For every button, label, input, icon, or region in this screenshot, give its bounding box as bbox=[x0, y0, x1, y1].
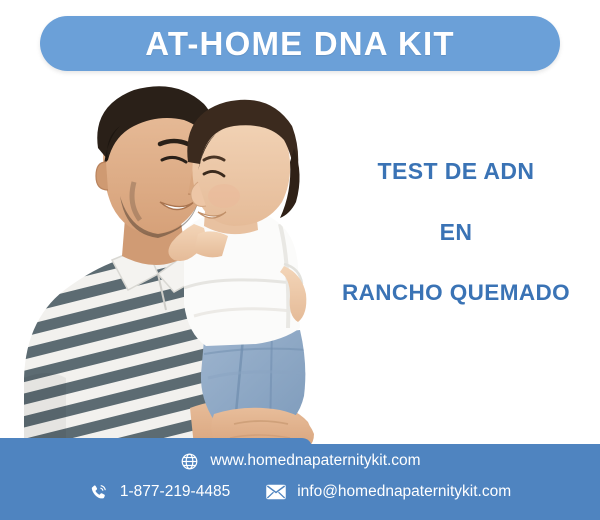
footer-website-label: www.homednapaternitykit.com bbox=[210, 453, 420, 469]
footer-phone-item[interactable]: 1-877-219-4485 bbox=[89, 482, 230, 502]
footer-website-item[interactable]: www.homednapaternitykit.com bbox=[179, 451, 420, 471]
footer-contact-row: 1-877-219-4485 info@homednapaternitykit.… bbox=[0, 482, 600, 502]
headline-line-3: RANCHO QUEMADO bbox=[320, 282, 592, 305]
father-and-child-photo bbox=[8, 78, 338, 460]
phone-icon bbox=[89, 482, 109, 502]
poster-canvas: AT-HOME DNA KIT bbox=[0, 0, 600, 520]
footer-email-item[interactable]: info@homednapaternitykit.com bbox=[266, 482, 511, 502]
headline-line-2: EN bbox=[320, 221, 592, 244]
headline-block: TEST DE ADN EN RANCHO QUEMADO bbox=[320, 160, 592, 305]
page-title: AT-HOME DNA KIT bbox=[145, 27, 454, 60]
globe-icon bbox=[179, 451, 199, 471]
footer: www.homednapaternitykit.com 1-877-219-44… bbox=[0, 438, 600, 520]
footer-website-row: www.homednapaternitykit.com bbox=[0, 451, 600, 471]
footer-email-label: info@homednapaternitykit.com bbox=[297, 484, 511, 500]
headline-line-1: TEST DE ADN bbox=[320, 160, 592, 183]
footer-phone-label: 1-877-219-4485 bbox=[120, 484, 230, 500]
envelope-icon bbox=[266, 482, 286, 502]
header-banner: AT-HOME DNA KIT bbox=[40, 16, 560, 71]
footer-content: www.homednapaternitykit.com 1-877-219-44… bbox=[0, 438, 600, 520]
